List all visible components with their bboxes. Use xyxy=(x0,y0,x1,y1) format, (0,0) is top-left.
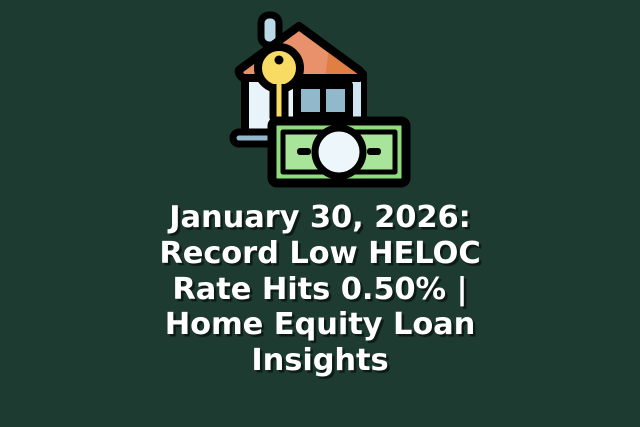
house-window-icon xyxy=(297,85,349,116)
page-title: January 30, 2026: Record Low HELOC Rate … xyxy=(120,200,520,379)
banknote-icon xyxy=(272,121,406,183)
house-key-money-icon xyxy=(225,6,415,192)
promo-card: January 30, 2026: Record Low HELOC Rate … xyxy=(0,0,640,427)
